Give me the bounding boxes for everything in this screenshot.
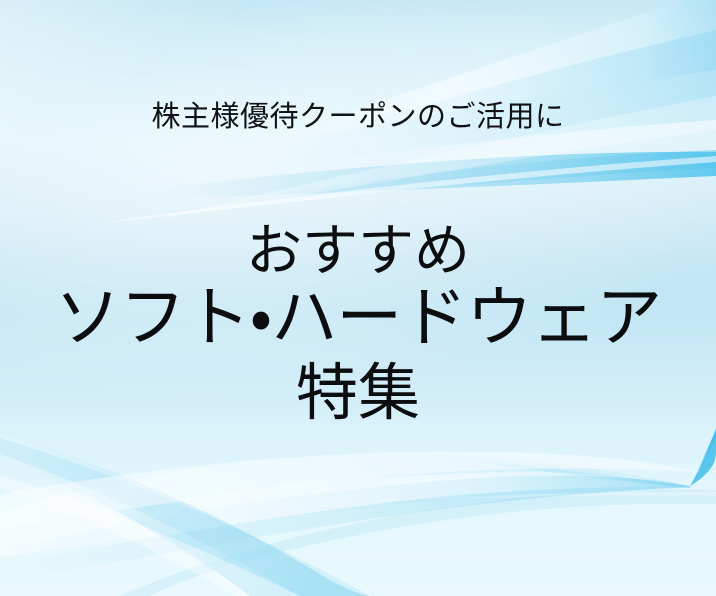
banner-subtitle: 株主様優待クーポンのご活用に	[0, 100, 716, 135]
banner-headline-line-3: 特集	[0, 361, 716, 426]
banner-headline-line-2: ソフト・ハードウェア	[0, 283, 716, 352]
promo-banner: 株主様優待クーポンのご活用に おすすめ ソフト・ハードウェア 特集	[0, 0, 716, 596]
banner-text-layer: 株主様優待クーポンのご活用に おすすめ ソフト・ハードウェア 特集	[0, 0, 716, 596]
banner-headline-line-1: おすすめ	[0, 222, 716, 281]
